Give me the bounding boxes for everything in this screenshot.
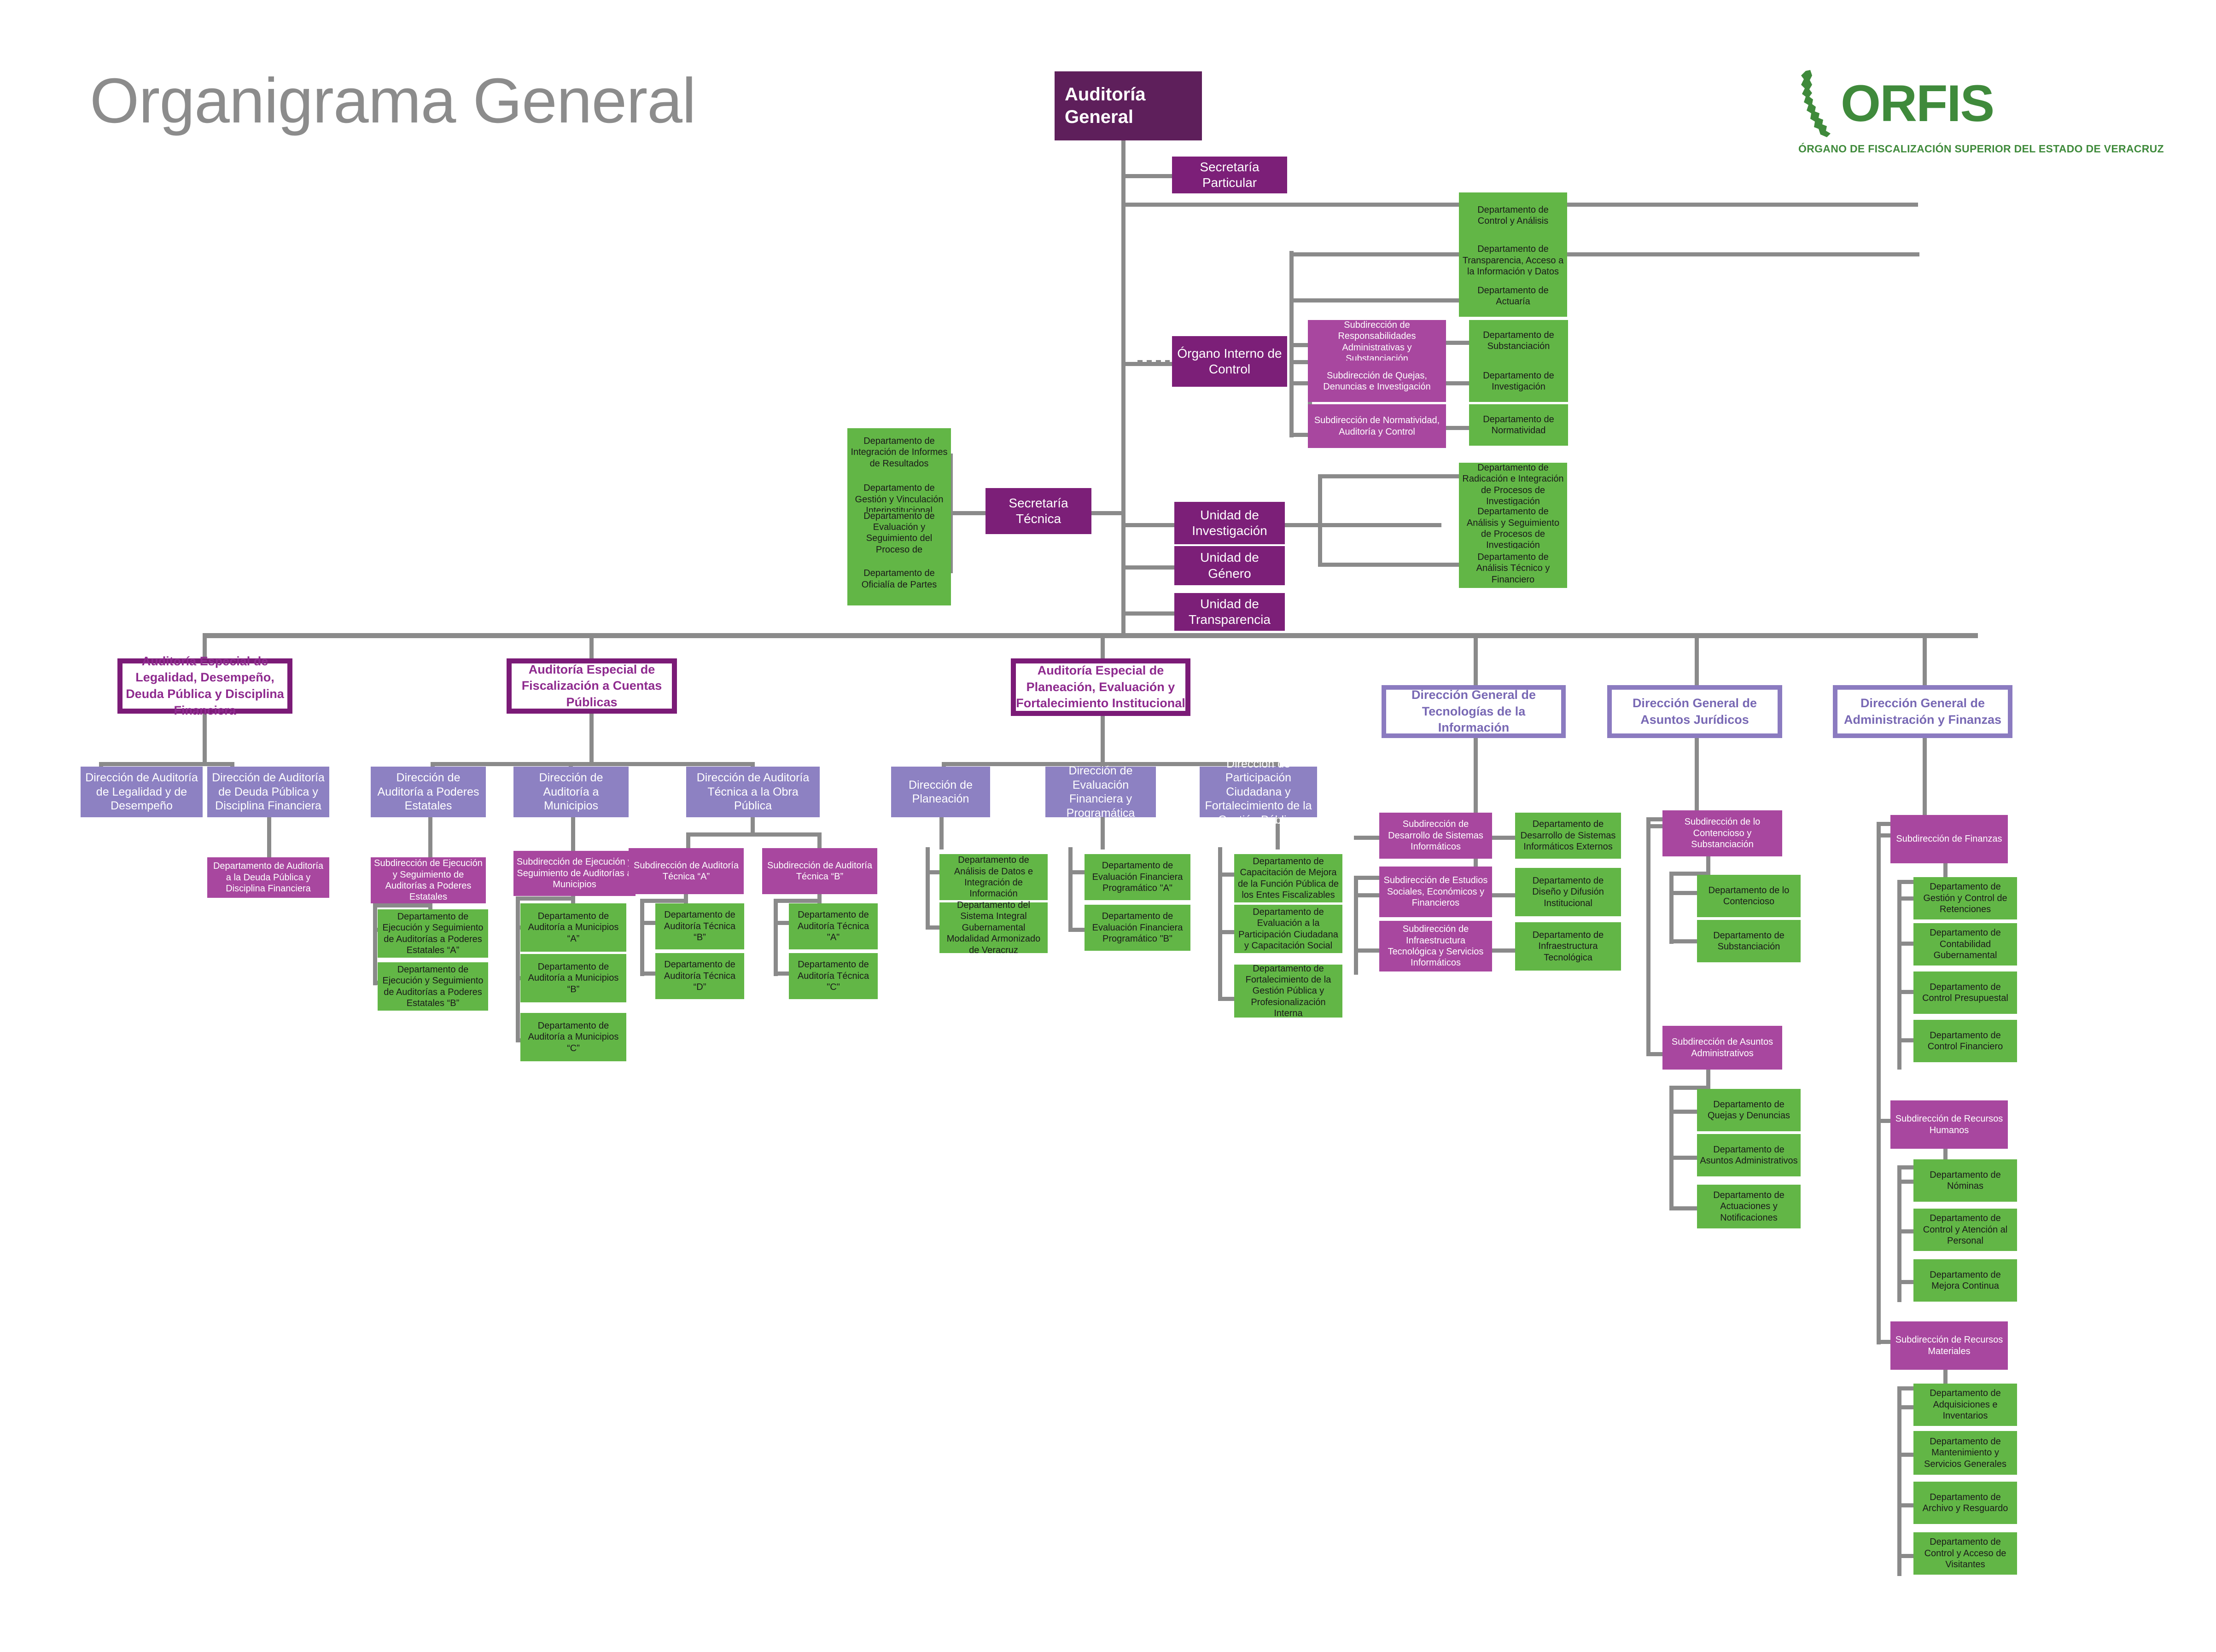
connector — [1101, 817, 1105, 849]
connector — [1669, 873, 1674, 944]
connector — [516, 898, 520, 1041]
connector — [1121, 565, 1174, 570]
connector — [1669, 1156, 1697, 1160]
connector — [1318, 474, 1461, 478]
connector — [939, 817, 944, 849]
connector — [774, 899, 820, 903]
node-dep-integracion-informes[interactable]: Departamento de Integración de Informes … — [847, 428, 951, 477]
connector — [1492, 836, 1517, 840]
connector — [926, 847, 930, 928]
node-sub-normatividad[interactable]: Subdirección de Normatividad, Auditoría … — [1308, 404, 1446, 448]
connector — [751, 815, 755, 833]
connector — [640, 900, 644, 976]
node-sub-recursos-materiales[interactable]: Subdirección de Recursos Materiales — [1890, 1321, 2008, 1370]
node-sub-responsabilidades[interactable]: Subdirección de Responsabilidades Admini… — [1308, 320, 1446, 364]
node-dg-tecnologias[interactable]: Dirección General de Tecnologías de la I… — [1382, 685, 1566, 738]
connector — [373, 903, 431, 907]
node-secretaria-particular[interactable]: Secretaría Particular — [1172, 157, 1287, 193]
node-ae-legalidad[interactable]: Auditoría Especial de Legalidad, Desempe… — [117, 658, 292, 714]
node-auditoria-general[interactable]: Auditoría General — [1055, 71, 1202, 140]
node-dep-contabilidad[interactable]: Departamento de Contabilidad Gubernament… — [1913, 923, 2017, 966]
node-dep-mejora-continua[interactable]: Departamento de Mejora Continua — [1913, 1259, 2017, 1302]
connector — [589, 633, 594, 661]
logo-tagline: ÓRGANO DE FISCALIZACIÓN SUPERIOR DEL EST… — [1798, 143, 2111, 155]
connector — [1318, 474, 1322, 566]
node-sub-asuntos-admin[interactable]: Subdirección de Asuntos Administrativos — [1662, 1026, 1782, 1070]
node-dep-municipios-c[interactable]: Departamento de Auditoría a Municipios “… — [520, 1013, 626, 1061]
node-dep-municipios-a[interactable]: Departamento de Auditoría a Municipios “… — [520, 903, 626, 952]
connector — [1446, 341, 1469, 345]
node-dep-oficialia-partes[interactable]: Departamento de Oficialía de Partes — [847, 553, 951, 605]
connector — [1669, 1110, 1697, 1114]
connector — [1877, 822, 1881, 1344]
connector — [1354, 876, 1358, 975]
node-sub-recursos-humanos[interactable]: Subdirección de Recursos Humanos — [1890, 1100, 2008, 1149]
connector — [949, 511, 986, 515]
node-dep-quejas-denuncias[interactable]: Departamento de Quejas y Denuncias — [1697, 1089, 1801, 1131]
connector — [1923, 737, 1927, 824]
connector — [1446, 381, 1469, 385]
node-organo-interno-control[interactable]: Órgano Interno de Control — [1172, 336, 1287, 387]
node-dep-diseno-difusion[interactable]: Departamento de Diseño y Difusión Instit… — [1515, 868, 1621, 916]
connector — [1289, 252, 1919, 256]
node-dg-juridicos[interactable]: Dirección General de Asuntos Jurídicos — [1607, 685, 1782, 738]
node-sub-desarrollo-sistemas[interactable]: Subdirección de Desarrollo de Sistemas I… — [1379, 813, 1492, 859]
node-dep-asuntos-admin[interactable]: Departamento de Asuntos Administrativos — [1697, 1134, 1801, 1176]
connector — [373, 905, 377, 985]
node-dep-control-analisis[interactable]: Departamento de Control y Análisis — [1459, 192, 1567, 238]
node-dg-administracion[interactable]: Dirección General de Administración y Fi… — [1833, 685, 2012, 738]
connector — [431, 762, 753, 766]
connector — [1101, 714, 1105, 764]
node-dir-obra-publica[interactable]: Dirección de Auditoría Técnica a la Obra… — [686, 767, 820, 817]
node-dep-control-visitantes[interactable]: Departamento de Control y Acceso de Visi… — [1913, 1532, 2017, 1575]
node-dep-contencioso[interactable]: Departamento de lo Contencioso — [1697, 875, 1801, 917]
connector — [1695, 633, 1699, 686]
connector — [640, 899, 686, 903]
node-dir-poderes-estatales[interactable]: Dirección de Auditoría a Poderes Estatal… — [371, 767, 486, 817]
node-sub-ejec-poderes[interactable]: Subdirección de Ejecución y Seguimiento … — [371, 857, 486, 903]
node-dep-actuaria[interactable]: Departamento de Actuaría — [1459, 275, 1567, 317]
node-dep-tecnica-b[interactable]: Departamento de Auditoría Técnica “B” — [655, 903, 744, 949]
node-dep-analisis-datos[interactable]: Departamento de Análisis de Datos e Inte… — [939, 854, 1048, 900]
node-sub-ejec-municipios[interactable]: Subdirección de Ejecución y Seguimiento … — [513, 851, 636, 896]
connector — [1289, 298, 1459, 302]
node-sub-quejas[interactable]: Subdirección de Quejas, Denuncias e Inve… — [1308, 361, 1446, 402]
connector — [1121, 523, 1174, 527]
node-ae-fiscalizacion[interactable]: Auditoría Especial de Fiscalización a Cu… — [507, 658, 677, 714]
connector — [1121, 174, 1172, 178]
node-dep-nominas[interactable]: Departamento de Nóminas — [1913, 1159, 2017, 1202]
connector — [1354, 893, 1382, 897]
connector — [428, 815, 432, 861]
node-unidad-transparencia[interactable]: Unidad de Transparencia — [1174, 593, 1285, 631]
connector — [774, 900, 778, 976]
connector — [516, 896, 573, 901]
node-dir-participacion[interactable]: Dirección de Participación Ciudadana y F… — [1200, 767, 1317, 817]
connector — [1121, 138, 1125, 633]
main-bus — [203, 633, 1978, 638]
connector — [1121, 611, 1174, 616]
node-dep-radicacion[interactable]: Departamento de Radicación e Integración… — [1459, 463, 1567, 506]
node-secretaria-tecnica[interactable]: Secretaría Técnica — [986, 488, 1091, 534]
connector — [1218, 847, 1222, 999]
node-dep-infraestructura[interactable]: Departamento de Infraestructura Tecnológ… — [1515, 922, 1621, 971]
node-dep-fortalecimiento[interactable]: Departamento de Fortalecimiento de la Ge… — [1234, 965, 1342, 1018]
connector — [1646, 817, 1650, 1054]
node-dep-actuaciones[interactable]: Departamento de Actuaciones y Notificaci… — [1697, 1185, 1801, 1228]
orfis-logo: ORFIS ÓRGANO DE FISCALIZACIÓN SUPERIOR D… — [1798, 69, 2111, 155]
node-dep-tecnica-a[interactable]: Departamento de Auditoría Técnica "A" — [789, 903, 878, 949]
connector — [1068, 847, 1073, 930]
connector — [203, 711, 207, 764]
node-dep-normatividad-oic[interactable]: Departamento de Normatividad — [1469, 404, 1568, 446]
node-dep-tecnica-c[interactable]: Departamento de Auditoría Técnica "C" — [789, 953, 878, 999]
node-sub-tecnica-b[interactable]: Subdirección de Auditoría Técnica “B” — [762, 848, 877, 894]
node-dep-gestion-retenciones[interactable]: Departamento de Gestión y Control de Ret… — [1913, 877, 2017, 919]
node-dep-substanciacion-oic[interactable]: Departamento de Substanciación — [1469, 320, 1568, 361]
node-dep-control-personal[interactable]: Departamento de Control y Atención al Pe… — [1913, 1209, 2017, 1251]
veracruz-map-icon — [1798, 69, 1834, 138]
node-dep-eval-fin-b[interactable]: Departamento de Evaluación Financiera Pr… — [1085, 905, 1190, 951]
node-dep-eval-fin-a[interactable]: Departamento de Evaluación Financiera Pr… — [1085, 854, 1190, 900]
dotted-connector — [1137, 360, 1170, 364]
connector — [571, 815, 575, 852]
page-title: Organigrama General — [90, 64, 696, 138]
node-sub-estudios-sociales[interactable]: Subdirección de Estudios Sociales, Econó… — [1379, 867, 1492, 917]
connector — [1669, 1087, 1674, 1209]
connector — [1695, 737, 1699, 820]
node-dep-analisis-tecnico-fin[interactable]: Departamento de Análisis Técnico y Finan… — [1459, 549, 1567, 588]
connector — [267, 815, 271, 861]
node-dep-substanciacion-juridico[interactable]: Departamento de Substanciación — [1697, 920, 1801, 962]
node-dep-mantenimiento[interactable]: Departamento de Mantenimiento y Servicio… — [1913, 1431, 2017, 1475]
node-dep-municipios-b[interactable]: Departamento de Auditoría a Municipios “… — [520, 954, 626, 1002]
node-dir-planeacion[interactable]: Dirección de Planeación — [891, 767, 990, 817]
node-dir-deuda-publica[interactable]: Dirección de Auditoría de Deuda Pública … — [207, 767, 329, 817]
node-dep-control-financiero[interactable]: Departamento de Control Financiero — [1913, 1020, 2017, 1062]
connector — [1354, 836, 1382, 840]
node-dep-tecnica-d[interactable]: Departamento de Auditoría Técnica “D” — [655, 953, 744, 999]
connector — [1446, 426, 1469, 430]
node-dep-ejec-poderes-a[interactable]: Departamento de Ejecución y Seguimiento … — [378, 909, 488, 958]
connector — [589, 711, 594, 764]
connector — [1669, 891, 1697, 895]
connector — [99, 762, 233, 766]
connector — [1318, 563, 1461, 567]
node-dep-eval-participacion[interactable]: Departamento de Evaluación a la Particip… — [1234, 905, 1342, 953]
node-ae-planeacion[interactable]: Auditoría Especial de Planeación, Evalua… — [1011, 658, 1190, 716]
node-unidad-genero[interactable]: Unidad de Género — [1174, 546, 1285, 585]
connector — [1923, 633, 1927, 686]
node-dir-legalidad-desempeno[interactable]: Dirección de Auditoría de Legalidad y de… — [81, 767, 203, 817]
node-dep-adquisiciones[interactable]: Departamento de Adquisiciones e Inventar… — [1913, 1384, 2017, 1426]
connector — [1101, 633, 1105, 661]
connector — [1669, 1206, 1697, 1210]
node-dep-sistema-integral[interactable]: Departamento del Sistema Integral Gubern… — [939, 902, 1048, 953]
node-sub-contencioso[interactable]: Subdirección de lo Contencioso y Substan… — [1662, 810, 1782, 856]
node-sub-infraestructura[interactable]: Subdirección de Infraestructura Tecnológ… — [1379, 921, 1492, 971]
node-dir-municipios[interactable]: Dirección de Auditoría a Municipios — [513, 767, 629, 817]
node-dep-analisis-seguimiento[interactable]: Departamento de Análisis y Seguimiento d… — [1459, 506, 1567, 552]
node-sub-tecnica-a[interactable]: Subdirección de Auditoría Técnica “A” — [629, 848, 744, 894]
node-dep-desarrollo-externos[interactable]: Departamento de Desarrollo de Sistemas I… — [1515, 813, 1621, 859]
node-dir-eval-financiera[interactable]: Dirección de Evaluación Financiera y Pro… — [1045, 767, 1156, 817]
connector — [1474, 633, 1478, 686]
connector — [1669, 939, 1697, 943]
connector — [1897, 1387, 1901, 1576]
connector — [1354, 948, 1382, 953]
node-dep-deuda-publica[interactable]: Departamento de Auditoría a la Deuda Púb… — [207, 857, 329, 898]
node-dep-ejec-poderes-b[interactable]: Departamento de Ejecución y Seguimiento … — [378, 962, 488, 1011]
node-dep-archivo[interactable]: Departamento de Archivo y Resguardo — [1913, 1482, 2017, 1524]
connector — [686, 832, 820, 837]
node-sub-finanzas[interactable]: Subdirección de Finanzas — [1890, 815, 2008, 863]
connector — [1492, 893, 1517, 897]
node-dep-investigacion-oic[interactable]: Departamento de Investigación — [1469, 361, 1568, 402]
node-dep-capacitacion[interactable]: Departamento de Capacitación de Mejora d… — [1234, 854, 1342, 902]
connector — [1492, 948, 1517, 953]
connector — [1285, 523, 1441, 527]
node-dep-control-presupuestal[interactable]: Departamento de Control Presupuestal — [1913, 971, 2017, 1014]
logo-wordmark: ORFIS — [1841, 78, 1994, 129]
node-unidad-investigacion[interactable]: Unidad de Investigación — [1174, 502, 1285, 544]
